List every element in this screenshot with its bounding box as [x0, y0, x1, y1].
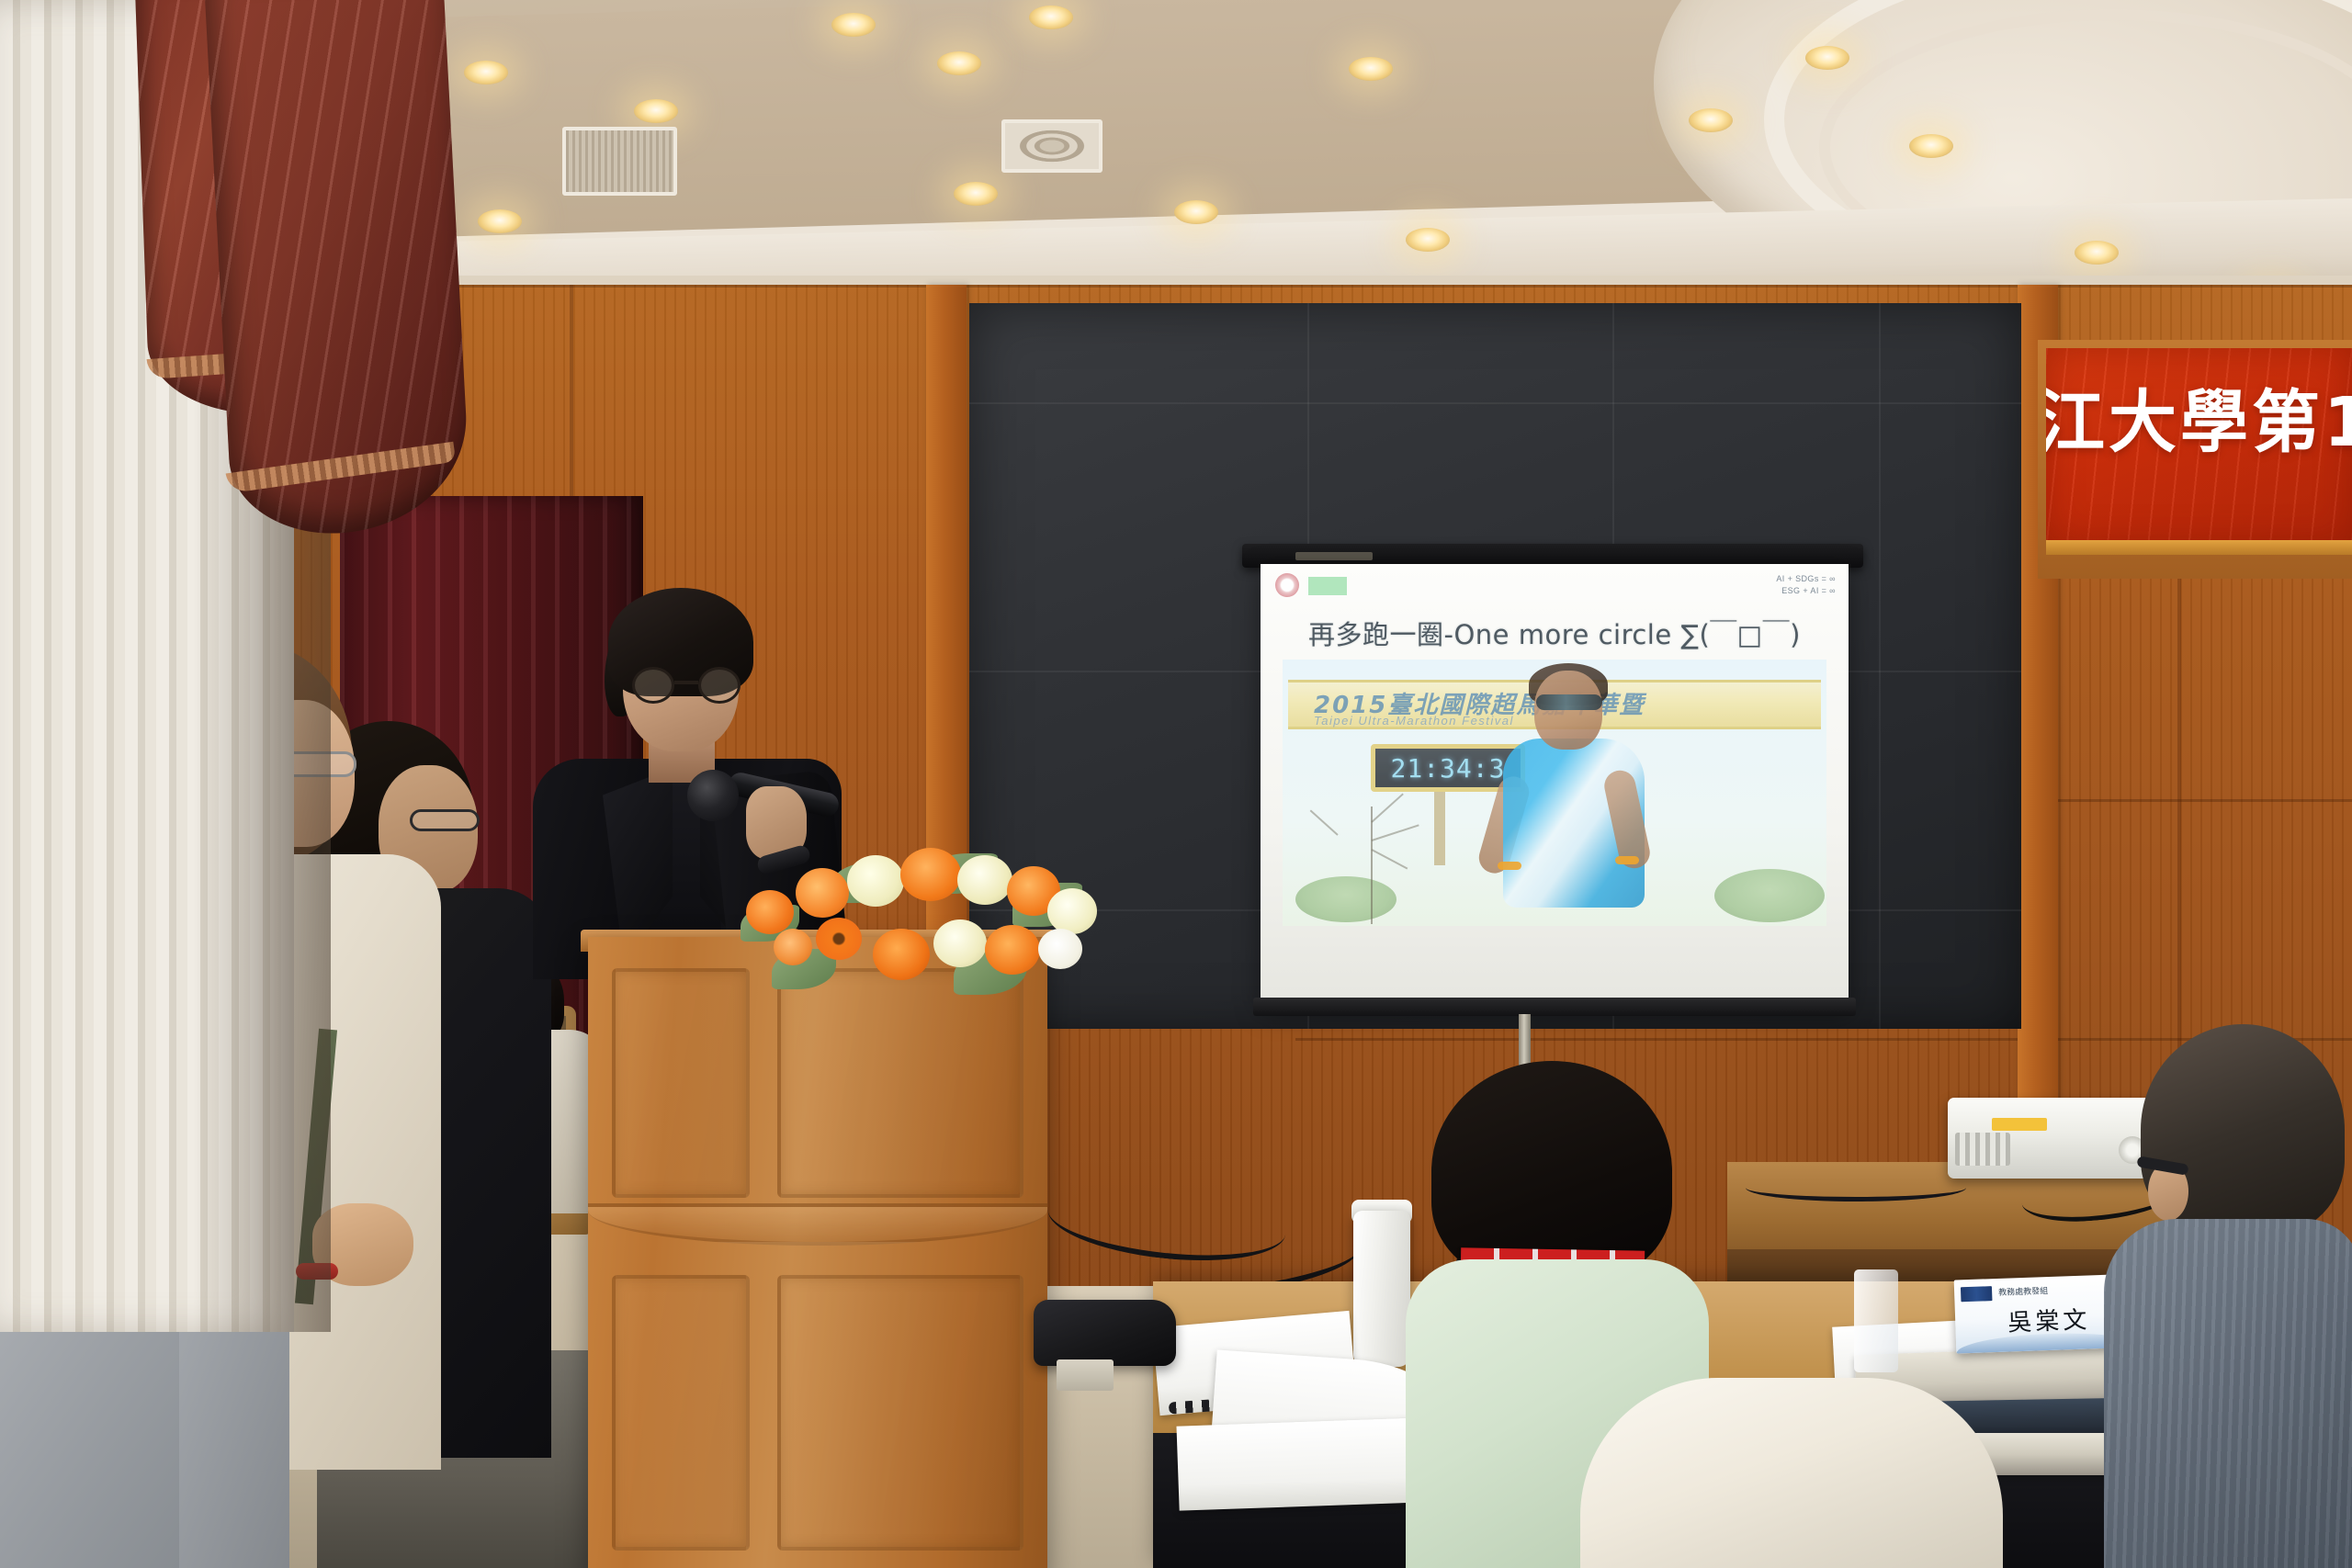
podium-panel-lower-left [612, 1275, 750, 1551]
photo-shrub [1295, 876, 1396, 922]
nameplate-org: 教務處教發組 [1998, 1284, 2048, 1298]
projection-screen-bottom-bar [1253, 998, 1856, 1016]
ceiling-downlight [634, 99, 678, 123]
speaker-eyeglasses [632, 667, 741, 704]
red-event-banner-text: 江大學第14屆 [2046, 389, 2352, 457]
ceiling-downlight [937, 51, 981, 75]
ceiling-downlight [1029, 6, 1073, 29]
slide-title: 再多跑一圈-One more circle ∑(￣□￣) [1261, 614, 1849, 652]
slide-content: AI + SDGs = ∞ ESG + AI = ∞ 再多跑一圈-One mor… [1261, 564, 1849, 1005]
ceiling-downlight [1909, 134, 1953, 158]
runner-wristband [1615, 856, 1639, 864]
document-page [1176, 1417, 1427, 1510]
seated-person-torso [2104, 1219, 2352, 1568]
photo-shrub [1714, 869, 1825, 922]
flower-cream [847, 855, 904, 907]
flower-cream [1047, 888, 1097, 934]
flower-orange [746, 890, 794, 934]
flower-orange [873, 929, 930, 980]
slide-corner-line-1: AI + SDGs = ∞ [1776, 573, 1836, 585]
projection-screen: AI + SDGs = ∞ ESG + AI = ∞ 再多跑一圈-One mor… [1261, 564, 1849, 1005]
wooden-podium [588, 937, 1047, 1568]
ceiling-downlight [1805, 46, 1849, 70]
flower-white [1038, 929, 1082, 969]
ceiling-air-vent [562, 127, 677, 196]
race-clock-post [1434, 792, 1445, 865]
flower-orange [796, 868, 849, 918]
photo-bare-tree [1371, 807, 1373, 924]
flower-cream [933, 919, 987, 967]
projector-warning-label [1992, 1118, 2047, 1131]
university-seal-logo [1275, 573, 1299, 597]
ceiling-downlight [1406, 228, 1450, 252]
person-seated-white-coat [1580, 1378, 2003, 1568]
podium-panel-upper-left [612, 968, 750, 1198]
conference-hall-photo: AI + SDGs = ∞ ESG + AI = ∞ 再多跑一圈-One mor… [0, 0, 2352, 1568]
runner-head [1534, 671, 1602, 750]
ceiling-downlight [1689, 108, 1733, 132]
thermos-bottle [1353, 1211, 1410, 1367]
runner-sunglasses [1536, 694, 1602, 710]
banner-bottom-trim [2046, 540, 2352, 555]
flower-orange [900, 848, 961, 901]
floral-arrangement [735, 840, 1093, 1006]
photo-runner [1487, 667, 1661, 926]
hdmi-cable [1746, 1174, 1966, 1201]
handheld-microphone-head [687, 770, 739, 821]
photo-race-banner-en: Taipei Ultra-Marathon Festival [1314, 714, 1514, 728]
nameplate-logo [1961, 1286, 1993, 1302]
black-bag [1034, 1300, 1176, 1366]
small-box [1057, 1359, 1114, 1391]
slide-corner-line-2: ESG + AI = ∞ [1776, 585, 1836, 597]
ceiling-downlight [831, 13, 876, 37]
ceiling-downlight [1174, 200, 1218, 224]
ceiling-downlight [954, 182, 998, 206]
ceiling-air-diffuser [1001, 119, 1102, 173]
flower-gerbera-orange [816, 918, 862, 960]
person-seated-grey-suit [2104, 1024, 2352, 1568]
projector-vent [1955, 1133, 2010, 1166]
seated-person-torso [1580, 1378, 2003, 1568]
ceiling-downlight [1349, 57, 1393, 81]
slide-accent-block [1308, 577, 1347, 595]
ceiling-downlight [478, 209, 522, 233]
ceiling-downlight [2075, 241, 2119, 265]
flower-orange [985, 925, 1040, 975]
flower-orange-small [774, 929, 812, 965]
runner-wristband [1498, 862, 1521, 870]
slide-photo-marathon: 2015臺北國際超馬嘉年華暨 Taipei Ultra-Marathon Fes… [1283, 660, 1826, 926]
podium-panel-lower-right [777, 1275, 1023, 1551]
red-event-banner: 江大學第14屆 [2046, 348, 2352, 545]
ceiling-downlight [464, 61, 508, 85]
decorative-glass-vase [1854, 1269, 1898, 1372]
flower-cream [957, 855, 1012, 905]
slide-corner-annotation: AI + SDGs = ∞ ESG + AI = ∞ [1776, 573, 1836, 597]
